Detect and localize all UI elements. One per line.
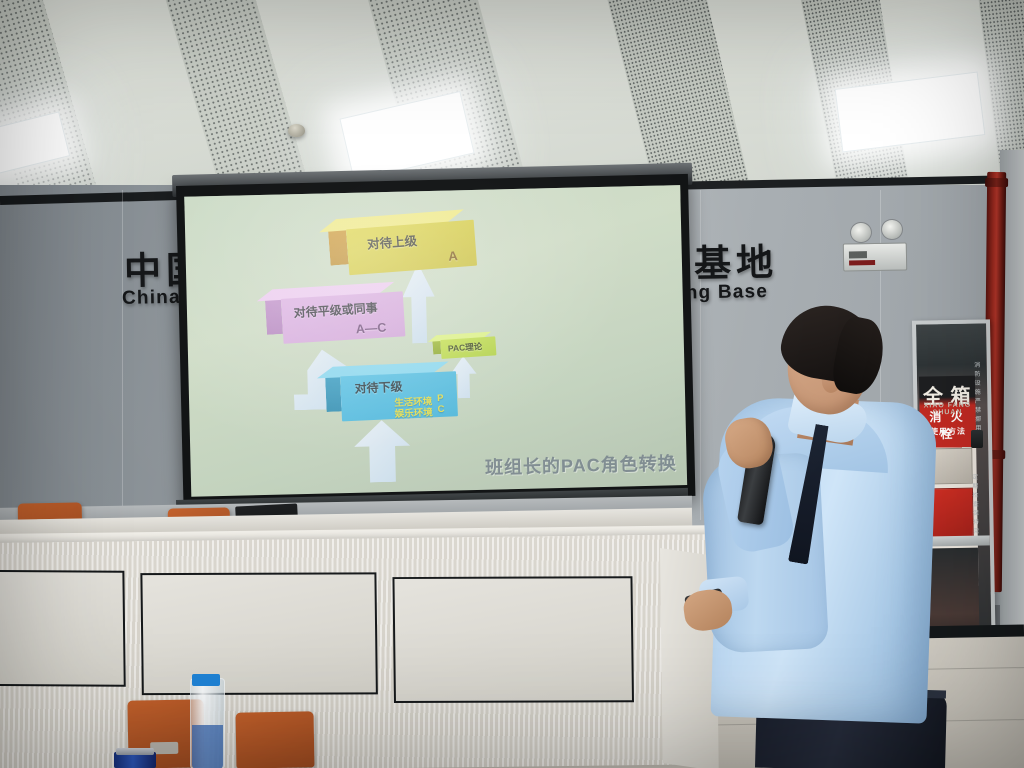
projection-screen: 对待上级 A 对待平级或同事 A—C PAC理论 bbox=[176, 174, 695, 508]
slide-box-subordinate: 对待下级 生活环境 P 娱乐环境 C bbox=[340, 371, 458, 421]
slide-box-peer-code: A—C bbox=[355, 320, 386, 336]
slide-box-theory: PAC理论 bbox=[440, 336, 496, 359]
arrow-up-icon bbox=[402, 263, 436, 344]
slide-box-peer: 对待平级或同事 A—C bbox=[281, 291, 406, 343]
podium-panel bbox=[392, 576, 634, 703]
subordinate-row-text: 娱乐环境 bbox=[394, 404, 433, 420]
bottle-cap bbox=[192, 674, 220, 686]
slide-box-theory-label: PAC理论 bbox=[447, 340, 482, 354]
smoke-detector-icon bbox=[288, 124, 305, 137]
water-bottle[interactable] bbox=[190, 678, 225, 768]
cabinet-latch-icon[interactable] bbox=[971, 430, 983, 448]
slide-content: 对待上级 A 对待平级或同事 A—C PAC理论 bbox=[184, 185, 687, 497]
presentation-room-photo: 中国 China Alu 训基地 ining Base 全 箱 XIAO FAN… bbox=[0, 0, 1024, 768]
emergency-light-sticker bbox=[849, 260, 875, 265]
bottle-water-level bbox=[192, 725, 223, 768]
slide-title: 班组长的PAC角色转换 bbox=[485, 449, 677, 480]
slide-box-upper-code: A bbox=[448, 248, 459, 264]
subordinate-row-code: P bbox=[437, 393, 444, 404]
podium bbox=[0, 534, 710, 768]
emergency-light-label bbox=[849, 251, 867, 258]
soda-can-top bbox=[116, 748, 154, 755]
slide-box-upper-label: 对待上级 bbox=[366, 230, 417, 253]
podium-panel bbox=[0, 570, 126, 687]
podium-panel bbox=[140, 572, 377, 695]
subordinate-row-code: C bbox=[437, 404, 444, 415]
cabinet-vertical-text: 消防设施严禁挪用 bbox=[972, 362, 982, 434]
arrow-up-icon bbox=[354, 420, 411, 483]
screen-surface: 对待上级 A 对待平级或同事 A—C PAC理论 bbox=[184, 185, 687, 497]
slide-box-upper: 对待上级 A bbox=[346, 220, 477, 276]
chair[interactable] bbox=[236, 711, 315, 768]
emergency-exit-light bbox=[843, 242, 907, 271]
slide-box-subordinate-label: 对待下级 bbox=[354, 378, 403, 397]
pipe-band bbox=[985, 178, 1008, 187]
